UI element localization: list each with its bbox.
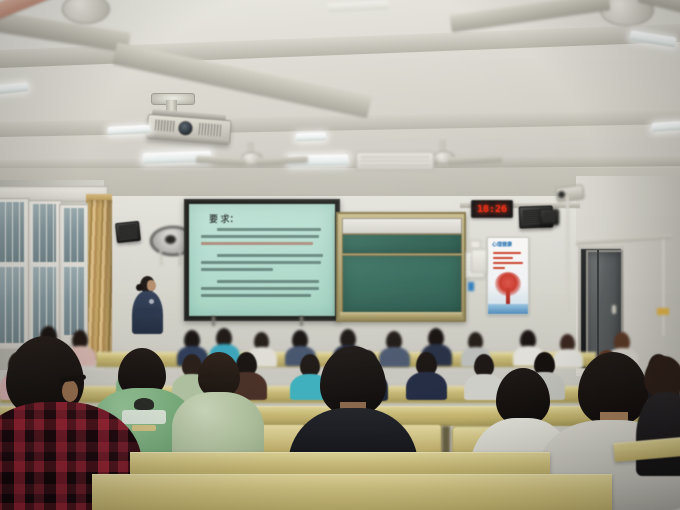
fluorescent-light — [296, 132, 326, 141]
wall-sign — [657, 308, 669, 315]
slide-paragraph — [201, 280, 325, 297]
desk-front-row — [92, 474, 612, 510]
presenter-hair-tie — [136, 284, 143, 291]
slide-paragraph — [201, 228, 325, 245]
wall-speaker — [115, 221, 141, 243]
ceiling-fan — [560, 0, 680, 40]
presenter-face — [147, 280, 156, 291]
ear — [62, 380, 78, 402]
conduit-pipe — [566, 196, 569, 312]
fan-motor — [62, 0, 110, 24]
fluorescent-light — [652, 121, 680, 132]
ceiling-fan — [0, 0, 180, 52]
camera-lens — [558, 191, 566, 199]
student-body — [172, 392, 264, 456]
projection-screen: 要 求： — [184, 199, 340, 321]
wall-poster: 心理健康 — [487, 237, 529, 315]
poster-footer — [488, 304, 528, 314]
green-chalkboard — [336, 212, 466, 322]
projection-screen-surface: 要 求： — [189, 204, 335, 316]
door-handle[interactable] — [612, 305, 616, 314]
chalkboard-panel — [342, 234, 462, 254]
bench-gap — [442, 426, 450, 454]
student-lightgreen — [172, 352, 264, 456]
clock-time: 18:26 — [477, 204, 507, 215]
presenter-logo — [149, 299, 154, 304]
chalkboard-top-strip — [342, 218, 462, 234]
chalkboard-panel — [342, 255, 462, 313]
slide-paragraph — [201, 254, 325, 271]
classroom-photo: 要 求： — [0, 0, 680, 510]
wall-sign — [468, 282, 474, 291]
air-conditioner — [356, 152, 434, 170]
led-wall-clock: 18:26 — [471, 200, 513, 218]
poster-heading: 心理健康 — [492, 241, 512, 248]
poster-tree-trunk — [506, 288, 510, 304]
wall-switch[interactable] — [470, 240, 481, 249]
wall-panel — [471, 249, 487, 273]
wall-speaker — [540, 209, 559, 225]
ceiling-fan — [196, 142, 312, 170]
slide-title: 要 求： — [209, 212, 239, 225]
student-body — [636, 392, 680, 476]
